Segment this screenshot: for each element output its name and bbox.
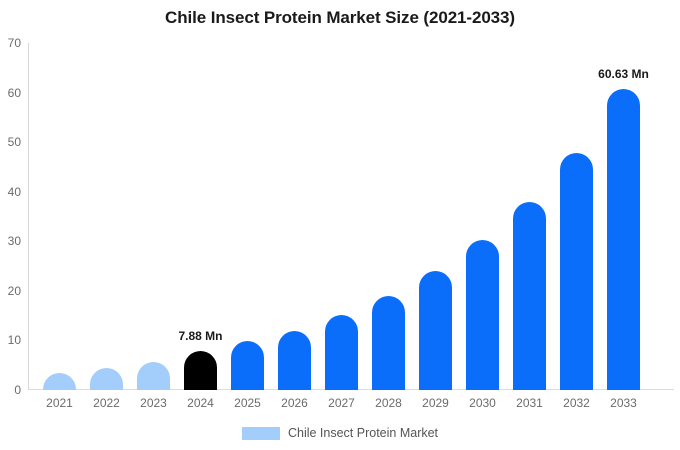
y-axis-tick-label: 40 xyxy=(8,185,21,199)
x-axis-tick-label-2032: 2032 xyxy=(553,396,600,410)
bar-2024[interactable] xyxy=(184,351,217,390)
y-axis-tick-label: 0 xyxy=(14,383,21,397)
bar-slot xyxy=(130,43,177,390)
bar-slot xyxy=(412,43,459,390)
bar-2022[interactable] xyxy=(90,368,123,390)
bar-2026[interactable] xyxy=(278,331,311,390)
bar-chart: Chile Insect Protein Market Size (2021-2… xyxy=(0,0,680,450)
x-axis-tick-label-2021: 2021 xyxy=(36,396,83,410)
x-axis-tick-label-2029: 2029 xyxy=(412,396,459,410)
bar-slot xyxy=(365,43,412,390)
x-axis-tick-label-2031: 2031 xyxy=(506,396,553,410)
bar-2029[interactable] xyxy=(419,271,452,390)
bar-slot xyxy=(224,43,271,390)
plot-area: 010203040506070 7.88 Mn60.63 Mn xyxy=(28,43,674,390)
bar-slot xyxy=(271,43,318,390)
legend-item-label: Chile Insect Protein Market xyxy=(288,426,438,440)
y-axis-tick-label: 30 xyxy=(8,234,21,248)
y-axis-tick-label: 20 xyxy=(8,284,21,298)
bar-2032[interactable] xyxy=(560,153,593,390)
bar-value-label-2024: 7.88 Mn xyxy=(178,329,222,343)
x-axis-tick-label-2024: 2024 xyxy=(177,396,224,410)
x-axis-tick-label-2025: 2025 xyxy=(224,396,271,410)
bar-slot: 7.88 Mn xyxy=(177,43,224,390)
chart-legend: Chile Insect Protein Market xyxy=(0,426,680,440)
bar-2023[interactable] xyxy=(137,362,170,390)
bar-2033[interactable] xyxy=(607,89,640,390)
x-axis-labels: 2021202220232024202520262027202820292030… xyxy=(28,396,674,414)
y-axis-tick-label: 70 xyxy=(8,36,21,50)
bar-slot xyxy=(83,43,130,390)
bar-2027[interactable] xyxy=(325,315,358,390)
bar-slot: 60.63 Mn xyxy=(600,43,647,390)
legend-swatch-icon xyxy=(242,427,280,440)
y-axis-tick-label: 10 xyxy=(8,333,21,347)
x-axis-tick-label-2028: 2028 xyxy=(365,396,412,410)
bar-2028[interactable] xyxy=(372,296,405,390)
bar-value-label-2033: 60.63 Mn xyxy=(598,67,649,81)
x-axis-tick-label-2022: 2022 xyxy=(83,396,130,410)
x-axis-tick-label-2023: 2023 xyxy=(130,396,177,410)
bar-2031[interactable] xyxy=(513,202,546,390)
legend-item[interactable]: Chile Insect Protein Market xyxy=(242,426,438,440)
bar-2030[interactable] xyxy=(466,240,499,390)
bar-slot xyxy=(459,43,506,390)
bar-2025[interactable] xyxy=(231,341,264,390)
bars-layer: 7.88 Mn60.63 Mn xyxy=(28,43,674,390)
bar-slot xyxy=(506,43,553,390)
bar-slot xyxy=(318,43,365,390)
x-axis-tick-label-2030: 2030 xyxy=(459,396,506,410)
x-axis-tick-label-2026: 2026 xyxy=(271,396,318,410)
bar-slot xyxy=(553,43,600,390)
x-axis-tick-label-2033: 2033 xyxy=(600,396,647,410)
y-axis-tick-label: 60 xyxy=(8,86,21,100)
chart-title: Chile Insect Protein Market Size (2021-2… xyxy=(0,8,680,28)
bar-2021[interactable] xyxy=(43,373,76,390)
y-axis-tick-label: 50 xyxy=(8,135,21,149)
x-axis-tick-label-2027: 2027 xyxy=(318,396,365,410)
bar-slot xyxy=(36,43,83,390)
